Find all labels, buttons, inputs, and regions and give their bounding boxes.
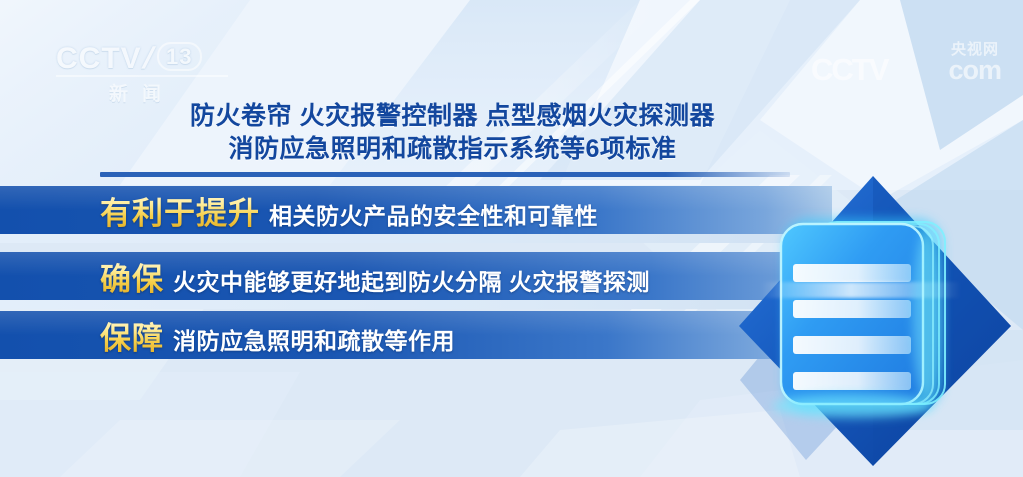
bullet-bar-guarantee: 保障 消防应急照明和疏散等作用 — [0, 311, 820, 359]
cctv13-brand-text: CCTV — [56, 42, 142, 75]
bar-keyword-ensure: 确保 — [100, 254, 164, 299]
bar-text-benefit: 相关防火产品的安全性和可靠性 — [269, 197, 598, 231]
bullet-bar-benefit: 有利于提升 相关防火产品的安全性和可靠性 — [0, 186, 832, 234]
headline-underline — [100, 172, 790, 177]
document-stack-graphic — [721, 176, 1021, 477]
bar-keyword-benefit: 有利于提升 — [100, 188, 260, 233]
bar-text-ensure: 火灾中能够更好地起到防火分隔 火灾报警探测 — [173, 263, 650, 297]
headline-line-1: 防火卷帘 火灾报警控制器 点型感烟火灾探测器 — [0, 100, 905, 133]
headline-line-2: 消防应急照明和疏散指示系统等6项标准 — [0, 133, 905, 166]
watermark-domain: com — [948, 55, 1001, 86]
document-stack-icon — [721, 176, 1021, 477]
watermark-brand: CCTV — [811, 52, 887, 88]
cctv-com-watermark: CCTV 央视网 com — [811, 38, 1001, 84]
bar-text-guarantee: 消防应急照明和疏散等作用 — [173, 322, 455, 356]
bar-keyword-guarantee: 保障 — [100, 313, 164, 358]
cctv13-rule — [56, 75, 228, 77]
cctv13-logo-brand: CCTV/13 — [56, 42, 228, 74]
bar-separator-1 — [0, 234, 832, 243]
broadcast-graphic-slide: CCTV/13 新闻 CCTV 央视网 com 防火卷帘 火灾报警控制器 点型感… — [0, 0, 1023, 477]
headline: 防火卷帘 火灾报警控制器 点型感烟火灾探测器 消防应急照明和疏散指示系统等6项标… — [0, 100, 905, 166]
cctv13-logo: CCTV/13 新闻 — [56, 42, 228, 98]
cctv13-number: 13 — [157, 42, 201, 71]
